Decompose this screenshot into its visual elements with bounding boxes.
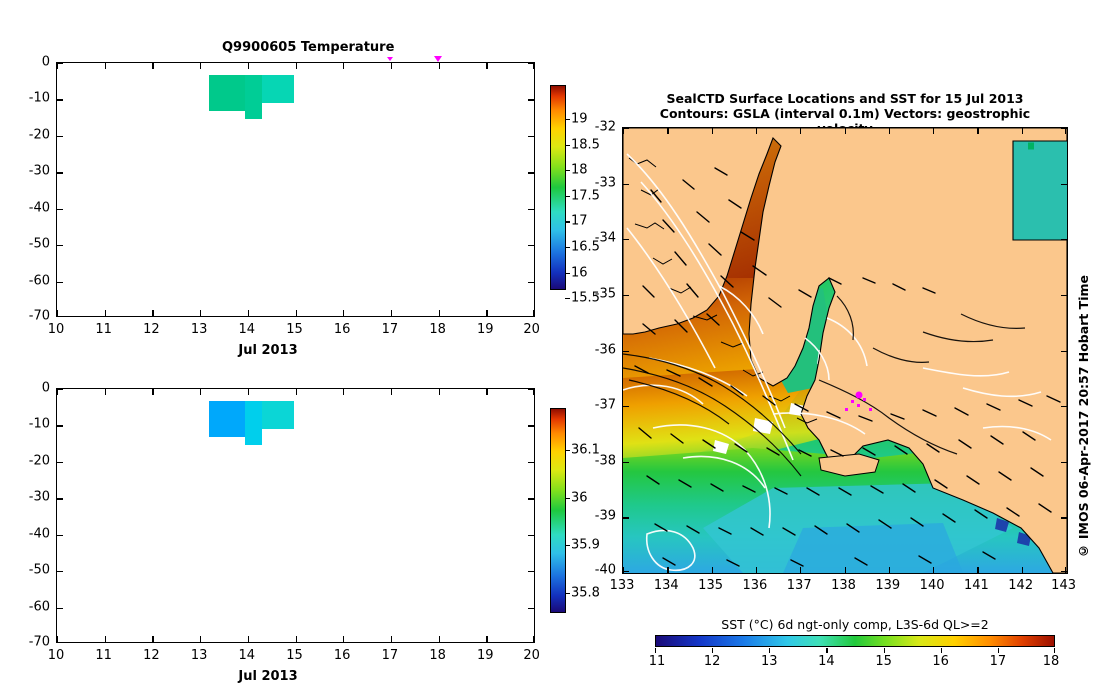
x-tick-label: 12 bbox=[143, 648, 160, 663]
colorbar-tick-label: 17 bbox=[565, 214, 588, 229]
x-tick-label: 16 bbox=[334, 322, 351, 337]
map-x-tick-label: 135 bbox=[698, 578, 723, 593]
sst-colorbar-tick-label: 18 bbox=[1043, 654, 1060, 669]
map-y-tick-label: -32 bbox=[595, 120, 616, 135]
profile-marker bbox=[434, 56, 442, 62]
colorbar-tick-label: 16 bbox=[565, 265, 588, 280]
y-tick-label: -20 bbox=[29, 453, 50, 468]
temperature-cell bbox=[245, 75, 262, 119]
y-tick-label: -60 bbox=[29, 273, 50, 288]
map-x-tick-label: 142 bbox=[1008, 578, 1033, 593]
map-x-tick-label: 139 bbox=[875, 578, 900, 593]
x-tick-label: 10 bbox=[48, 322, 65, 337]
y-tick-label: -50 bbox=[29, 237, 50, 252]
y-tick-label: -20 bbox=[29, 127, 50, 142]
y-tick-label: -30 bbox=[29, 164, 50, 179]
sst-colorbar-tick-label: 14 bbox=[818, 654, 835, 669]
salinity-colorbar: 36.1 36 35.9 35.8 bbox=[550, 408, 566, 613]
y-tick-label: -30 bbox=[29, 490, 50, 505]
salinity-cell bbox=[245, 401, 262, 445]
sst-colorbar-tick-label: 15 bbox=[875, 654, 892, 669]
map-title-line1: SealCTD Surface Locations and SST for 15… bbox=[645, 91, 1045, 106]
x-tick-label: 19 bbox=[477, 322, 494, 337]
colorbar-tick-label: 19 bbox=[565, 112, 588, 127]
colorbar-tick-label: 35.8 bbox=[565, 585, 600, 600]
sst-colorbar-tick-label: 12 bbox=[704, 654, 721, 669]
map-x-tick-label: 143 bbox=[1051, 578, 1076, 593]
x-tick-label: 14 bbox=[239, 322, 256, 337]
y-tick-label: -70 bbox=[29, 308, 50, 323]
sst-colorbar-tick-label: 17 bbox=[990, 654, 1007, 669]
sst-field-svg bbox=[623, 128, 1067, 573]
map-plot-area bbox=[622, 127, 1068, 574]
y-tick-label: 0 bbox=[42, 381, 50, 396]
x-tick-label: 11 bbox=[95, 648, 112, 663]
sst-colorbar-label: SST (°C) 6d ngt-only comp, L3S-6d QL>=2 bbox=[655, 617, 1055, 632]
x-tick-label: 14 bbox=[239, 648, 256, 663]
colorbar-tick-label: 18.5 bbox=[565, 137, 600, 152]
salinity-cell bbox=[262, 401, 294, 429]
sst-colorbar bbox=[655, 635, 1055, 647]
temperature-panel-title: Q9900605 Temperature bbox=[222, 40, 394, 55]
x-tick-label: 13 bbox=[191, 648, 208, 663]
map-y-tick-label: -40 bbox=[595, 563, 616, 578]
map-x-tick-label: 138 bbox=[831, 578, 856, 593]
colorbar-tick-label: 17.5 bbox=[565, 188, 600, 203]
map-y-tick-label: -36 bbox=[595, 342, 616, 357]
colorbar-tick-label: 36 bbox=[565, 490, 588, 505]
sst-patch-marker bbox=[1028, 143, 1034, 150]
x-tick-label: 16 bbox=[334, 648, 351, 663]
figure-canvas: Q9900605 Temperature bbox=[0, 0, 1099, 700]
salinity-x-axis-label: Jul 2013 bbox=[238, 669, 297, 684]
x-tick-label: 11 bbox=[95, 322, 112, 337]
x-tick-label: 18 bbox=[429, 322, 446, 337]
x-tick-label: 12 bbox=[143, 322, 160, 337]
map-y-tick-label: -34 bbox=[595, 231, 616, 246]
map-y-tick-label: -33 bbox=[595, 175, 616, 190]
profile-marker bbox=[387, 57, 393, 61]
y-tick-label: -10 bbox=[29, 91, 50, 106]
map-y-tick-label: -37 bbox=[595, 398, 616, 413]
salinity-cell bbox=[209, 401, 245, 437]
temperature-colorbar: 19 18.5 18 17.5 17 16.5 16 15.5 bbox=[550, 85, 566, 290]
map-x-tick-label: 133 bbox=[610, 578, 635, 593]
colorbar-tick-label: 35.9 bbox=[565, 538, 600, 553]
map-y-tick-label: -35 bbox=[595, 286, 616, 301]
y-tick-label: 0 bbox=[42, 55, 50, 70]
map-x-tick-label: 141 bbox=[964, 578, 989, 593]
x-tick-label: 20 bbox=[523, 648, 540, 663]
x-tick-label: 17 bbox=[382, 322, 399, 337]
temperature-x-axis-label: Jul 2013 bbox=[238, 343, 297, 358]
map-y-tick-label: -38 bbox=[595, 453, 616, 468]
map-x-tick-label: 140 bbox=[920, 578, 945, 593]
map-x-tick-label: 134 bbox=[654, 578, 679, 593]
sst-colorbar-tick-label: 16 bbox=[932, 654, 949, 669]
map-y-tick-label: -39 bbox=[595, 509, 616, 524]
x-tick-label: 15 bbox=[286, 648, 303, 663]
x-tick-label: 17 bbox=[382, 648, 399, 663]
y-tick-label: -40 bbox=[29, 200, 50, 215]
y-tick-label: -50 bbox=[29, 563, 50, 578]
sst-colorbar-tick-label: 11 bbox=[649, 654, 666, 669]
map-x-tick-label: 137 bbox=[787, 578, 812, 593]
y-tick-label: -70 bbox=[29, 634, 50, 649]
map-x-tick-label: 136 bbox=[742, 578, 767, 593]
temperature-cell bbox=[262, 75, 294, 103]
x-tick-label: 18 bbox=[429, 648, 446, 663]
sst-colorbar-tick-label: 13 bbox=[761, 654, 778, 669]
colorbar-tick-label: 18 bbox=[565, 163, 588, 178]
y-tick-label: -60 bbox=[29, 599, 50, 614]
temperature-plot-area bbox=[56, 62, 535, 317]
x-tick-label: 15 bbox=[286, 322, 303, 337]
copyright-timestamp: © IMOS 06-Apr-2017 20:57 Hobart Time bbox=[1076, 275, 1091, 559]
x-tick-label: 10 bbox=[48, 648, 65, 663]
x-tick-label: 13 bbox=[191, 322, 208, 337]
x-tick-label: 20 bbox=[523, 322, 540, 337]
y-tick-label: -40 bbox=[29, 526, 50, 541]
x-tick-label: 19 bbox=[477, 648, 494, 663]
seal-ctd-location-marker[interactable] bbox=[856, 392, 863, 399]
salinity-plot-area bbox=[56, 388, 535, 643]
y-tick-label: -10 bbox=[29, 417, 50, 432]
temperature-cell bbox=[209, 75, 245, 111]
